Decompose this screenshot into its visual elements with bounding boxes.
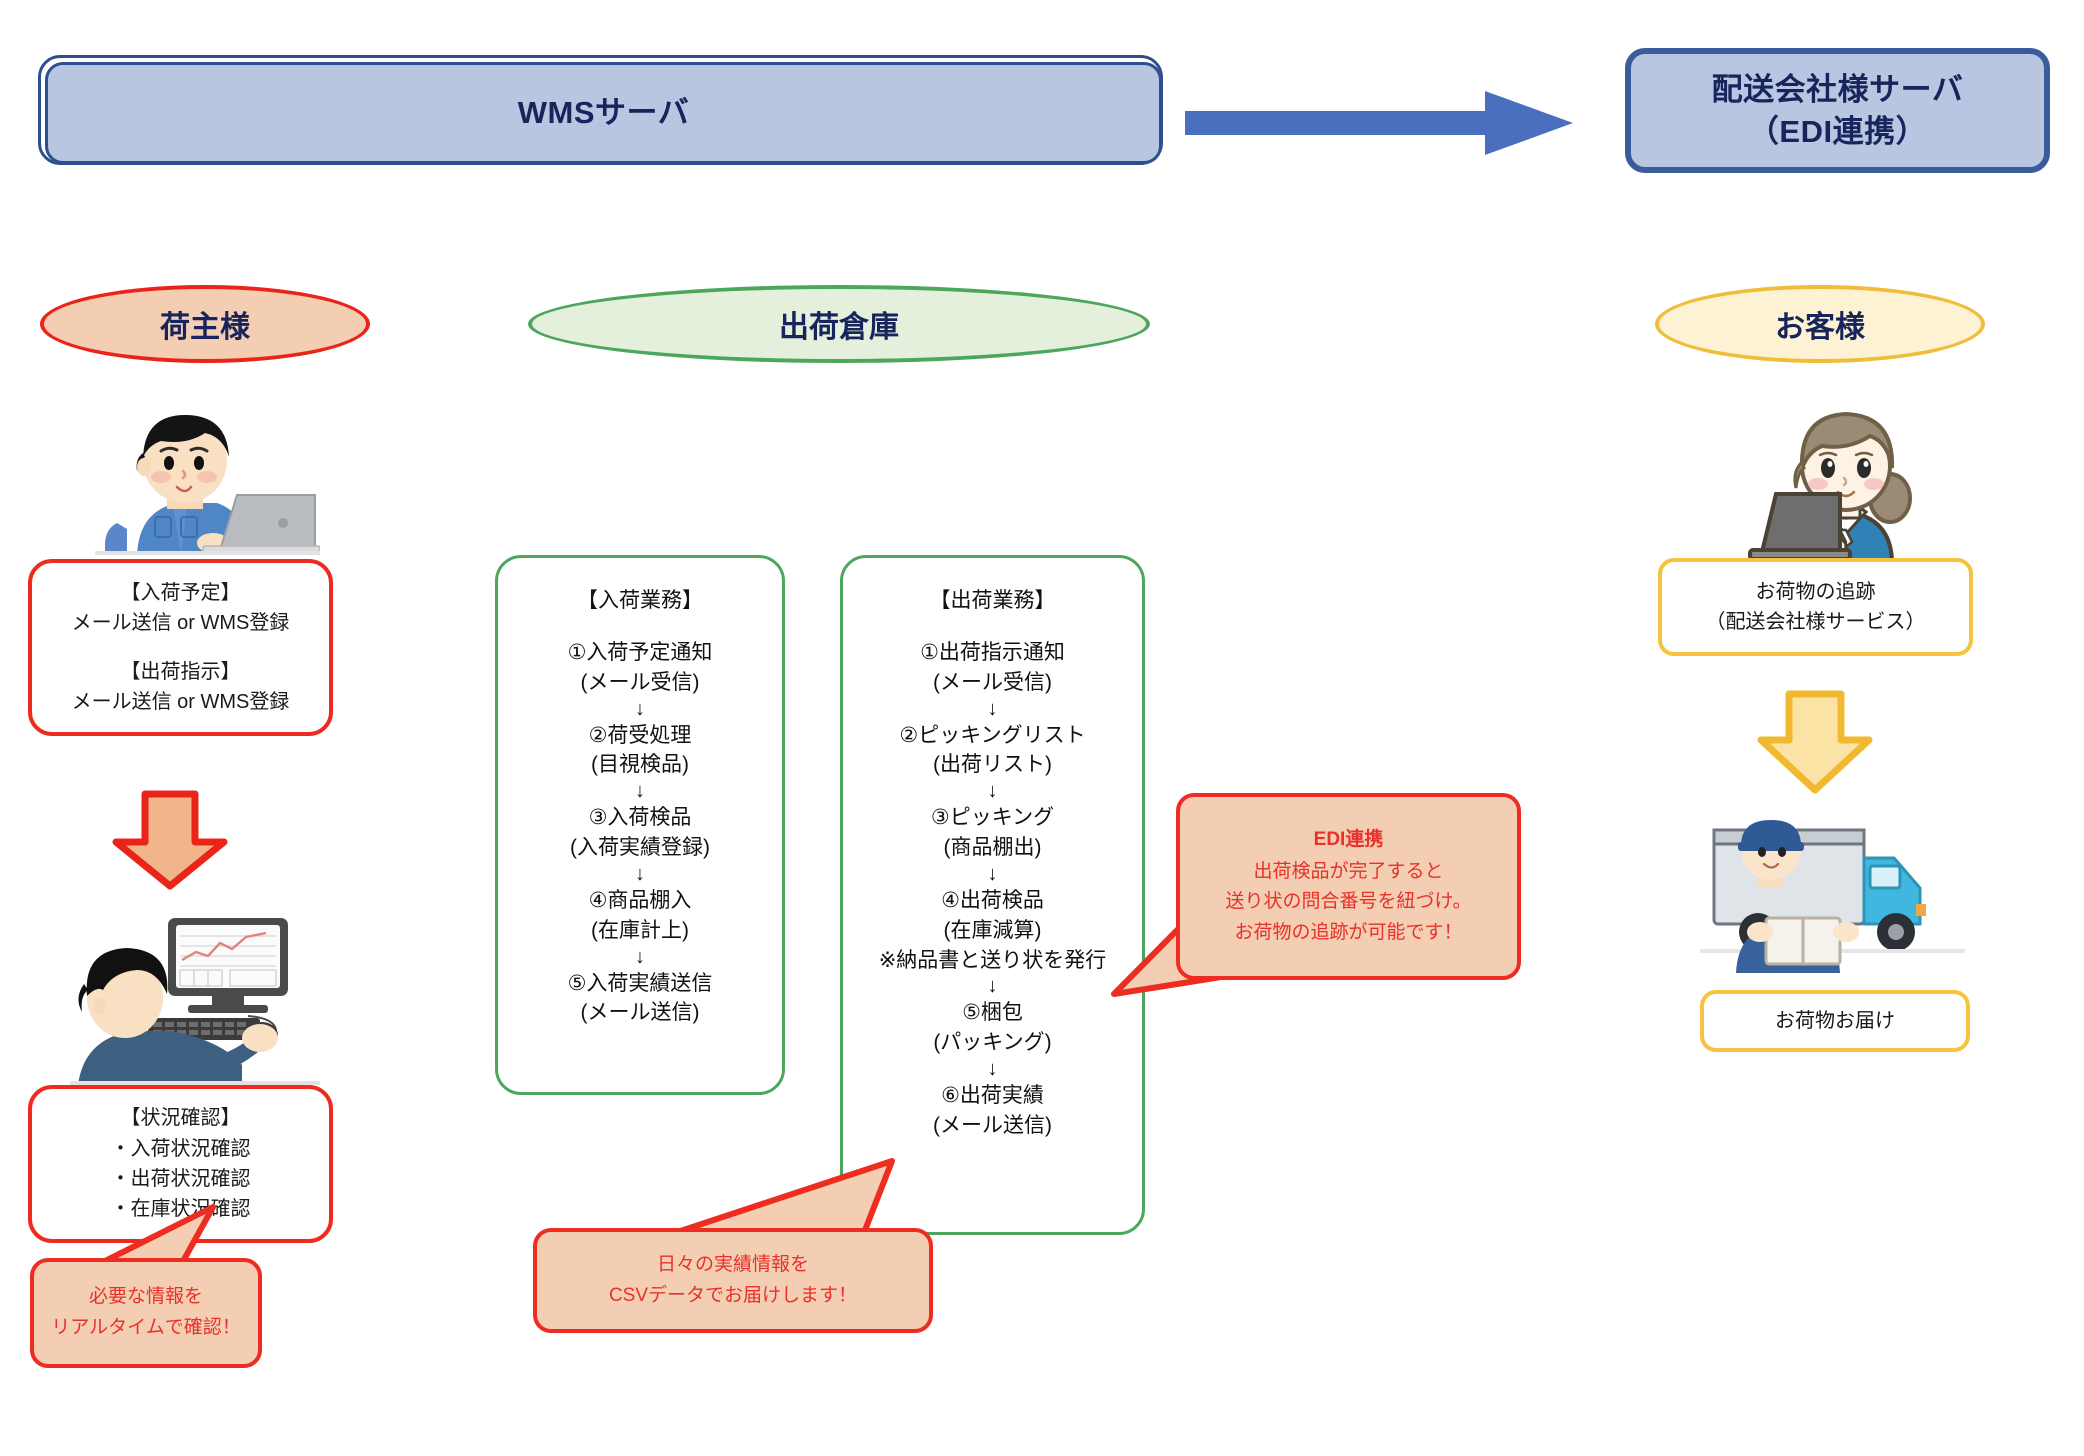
outbound-step-3-sub: (商品棚出) [944,833,1042,863]
inbound-step-3: ③入荷検品 [589,803,692,833]
shipper-status-line3: ・出荷状況確認 [111,1164,251,1194]
edi-data-flow-arrow [1185,88,1575,158]
tracking-line2: （配送会社様サービス） [1706,607,1926,637]
outbound-step-3: ③ピッキング [931,803,1054,833]
orange-down-arrow [110,790,230,890]
inbound-arrow-icon-2: ↓ [635,780,645,803]
inbound-step-4-sub: (在庫計上) [591,916,689,946]
outbound-step-4: ④出荷検品 [941,886,1044,916]
inbound-arrow-icon-3: ↓ [635,863,645,886]
csv-callout: 日々の実績情報を CSVデータでお届けします！ [533,1228,933,1333]
carrier-server-box: 配送会社様サーバ （EDI連携） [1625,48,2050,173]
inbound-step-4: ④商品棚入 [589,886,692,916]
inbound-arrow-icon-4: ↓ [635,946,645,969]
edi-callout-title: EDI連携 [1314,824,1384,856]
inbound-step-3-sub: (入荷実績登録) [570,833,710,863]
man-with-laptop-illustration [95,405,320,555]
lane-header-shipper: 荷主様 [40,285,370,363]
delivery-line1: お荷物お届け [1775,1006,1895,1036]
diagram-canvas: WMSサーバ 配送会社様サーバ （EDI連携） 荷主様 出荷倉庫 お客様 [0,0,2084,1456]
wms-server-box: WMSサーバ [38,55,1163,165]
shipper-request-box: 【入荷予定】 メール送信 or WMS登録 【出荷指示】 メール送信 or WM… [28,559,333,736]
outbound-arrow-icon-4: ↓ [988,975,998,998]
outbound-step-5: ⑤梱包 [962,998,1023,1028]
outbound-step-2: ②ピッキングリスト [899,721,1085,751]
wms-server-label: WMSサーバ [518,92,689,134]
shipper-callout-line1: 必要な情報を [89,1282,203,1313]
outbound-step-2-sub: (出荷リスト) [933,750,1052,780]
woman-with-laptop-illustration [1740,400,1930,560]
inbound-header: 【入荷業務】 [577,584,703,614]
outbound-step-4-sub: (在庫減算) [944,916,1042,946]
lane-header-customer: お客様 [1655,285,1985,363]
edi-callout-line2: 送り状の問合番号を紐づけ。 [1225,887,1471,918]
delivery-truck-illustration [1700,808,1965,973]
inbound-operations-box: 【入荷業務】 ①入荷予定通知 (メール受信) ↓ ②荷受処理 (目視検品) ↓ … [495,555,785,1095]
yellow-down-arrow [1755,690,1875,795]
outbound-operations-box: 【出荷業務】 ①出荷指示通知 (メール受信) ↓ ②ピッキングリスト (出荷リス… [840,555,1145,1235]
outbound-header: 【出荷業務】 [930,584,1056,614]
outbound-step-6-sub: (メール送信) [933,1111,1052,1141]
outbound-arrow-icon-5: ↓ [988,1058,998,1081]
inbound-step-1-sub: (メール受信) [581,668,700,698]
tracking-line1: お荷物の追跡 [1756,577,1876,607]
outbound-step-4-note: ※納品書と送り状を発行 [879,946,1107,976]
carrier-server-label-line1: 配送会社様サーバ [1712,69,1964,111]
shipper-request-line2: メール送信 or WMS登録 [72,608,290,638]
inbound-step-2-sub: (目視検品) [591,750,689,780]
csv-callout-line2: CSVデータでお届けします！ [609,1281,857,1312]
outbound-step-6: ⑥出荷実績 [941,1081,1044,1111]
edi-callout-line3: お荷物の追跡が可能です！ [1234,918,1462,949]
inbound-step-5: ⑤入荷実績送信 [568,969,713,999]
shipper-status-line1: 【状況確認】 [121,1103,241,1133]
shipper-callout: 必要な情報を リアルタイムで確認！ [30,1258,262,1368]
shipper-request-line1: 【入荷予定】 [121,578,241,608]
csv-callout-line1: 日々の実績情報を [657,1250,809,1281]
lane-header-customer-label: お客様 [1775,302,1865,346]
carrier-server-label-line2: （EDI連携） [1712,111,1964,153]
shipper-request-line3: 【出荷指示】 [121,657,241,687]
lane-header-shipper-label: 荷主様 [160,302,250,346]
outbound-step-1: ①出荷指示通知 [920,638,1065,668]
inbound-step-2: ②荷受処理 [589,721,692,751]
wms-server-inner: WMSサーバ [45,62,1162,164]
delivery-box: お荷物お届け [1700,990,1970,1052]
edi-callout: EDI連携 出荷検品が完了すると 送り状の問合番号を紐づけ。 お荷物の追跡が可能… [1176,793,1521,980]
inbound-step-1: ①入荷予定通知 [568,638,713,668]
outbound-arrow-icon-1: ↓ [988,698,998,721]
lane-header-warehouse: 出荷倉庫 [528,285,1150,363]
outbound-arrow-icon-3: ↓ [988,863,998,886]
inbound-step-5-sub: (メール送信) [581,998,700,1028]
shipper-request-line4: メール送信 or WMS登録 [72,687,290,717]
shipper-status-line2: ・入荷状況確認 [111,1134,251,1164]
inbound-arrow-icon-1: ↓ [635,698,645,721]
tracking-box: お荷物の追跡 （配送会社様サービス） [1658,558,1973,656]
man-viewing-dashboard-illustration [70,910,320,1085]
outbound-arrow-icon-2: ↓ [988,780,998,803]
outbound-step-1-sub: (メール受信) [933,668,1052,698]
lane-header-warehouse-label: 出荷倉庫 [779,302,899,346]
edi-callout-line1: 出荷検品が完了すると [1253,857,1443,888]
shipper-callout-line2: リアルタイムで確認！ [51,1313,240,1344]
outbound-step-5-sub: (パッキング) [933,1028,1051,1058]
